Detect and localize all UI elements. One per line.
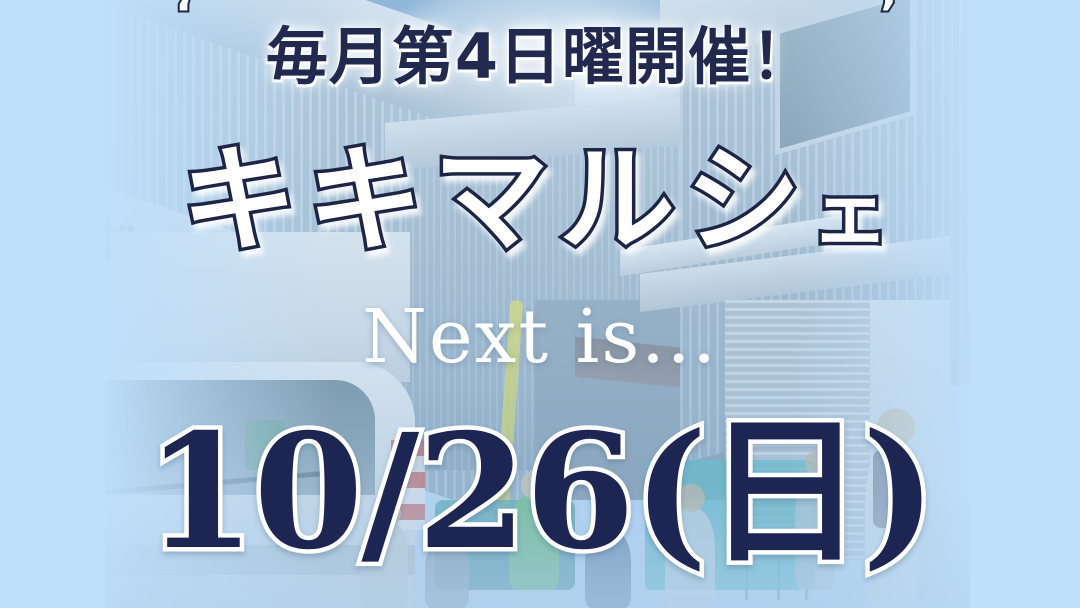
right-letterbox-band (970, 0, 1080, 608)
event-brand-title: キキマルシェ (0, 140, 1080, 262)
next-event-date: 10/26(日) (0, 412, 1080, 573)
next-is-label: Next is... (0, 300, 1080, 374)
event-brand-title-main: キキマルシ (181, 133, 811, 268)
poster-text-layer: ‘ ’ 毎月第4日曜開催！ キキマルシェ Next is... 10/26(日) (0, 0, 1080, 608)
decorative-quote-right-icon: ’ (880, 0, 897, 41)
event-brand-title-suffix: ェ (811, 169, 899, 259)
left-letterbox-band (0, 0, 105, 608)
event-frequency-headline: 毎月第4日曜開催！ (0, 26, 1080, 88)
poster-canvas: 株 式 会 (0, 0, 1080, 608)
decorative-quote-left-icon: ‘ (175, 0, 192, 41)
